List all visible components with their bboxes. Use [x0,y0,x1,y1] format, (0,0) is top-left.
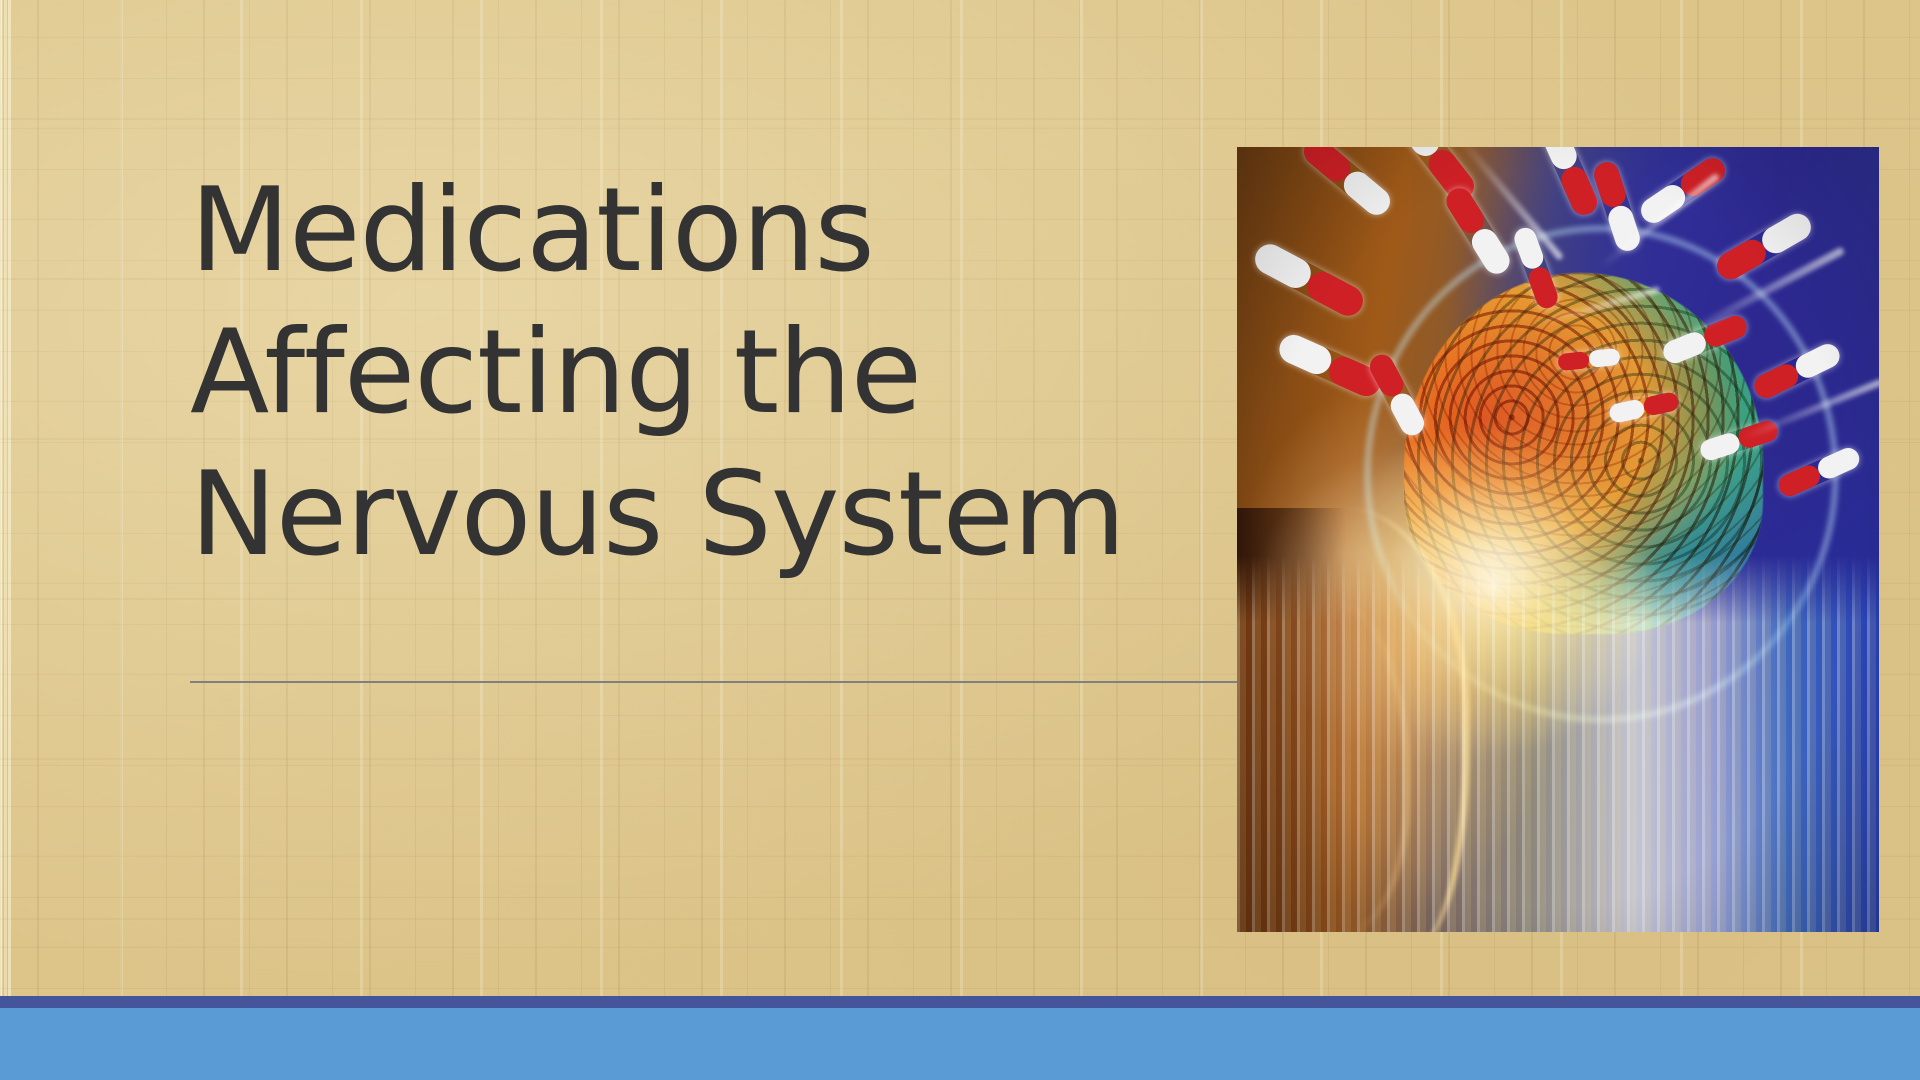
accent-bar-light [0,1008,1920,1080]
presentation-slide: Medications Affecting the Nervous System [0,0,1920,1080]
slide-title: Medications Affecting the Nervous System [190,160,1440,586]
title-line-1: Medications [190,160,1440,302]
title-line-3: Nervous System [190,444,1440,586]
title-underline-rule [190,681,1237,683]
title-line-2: Affecting the [190,302,1440,444]
accent-bar-dark [0,996,1920,1008]
